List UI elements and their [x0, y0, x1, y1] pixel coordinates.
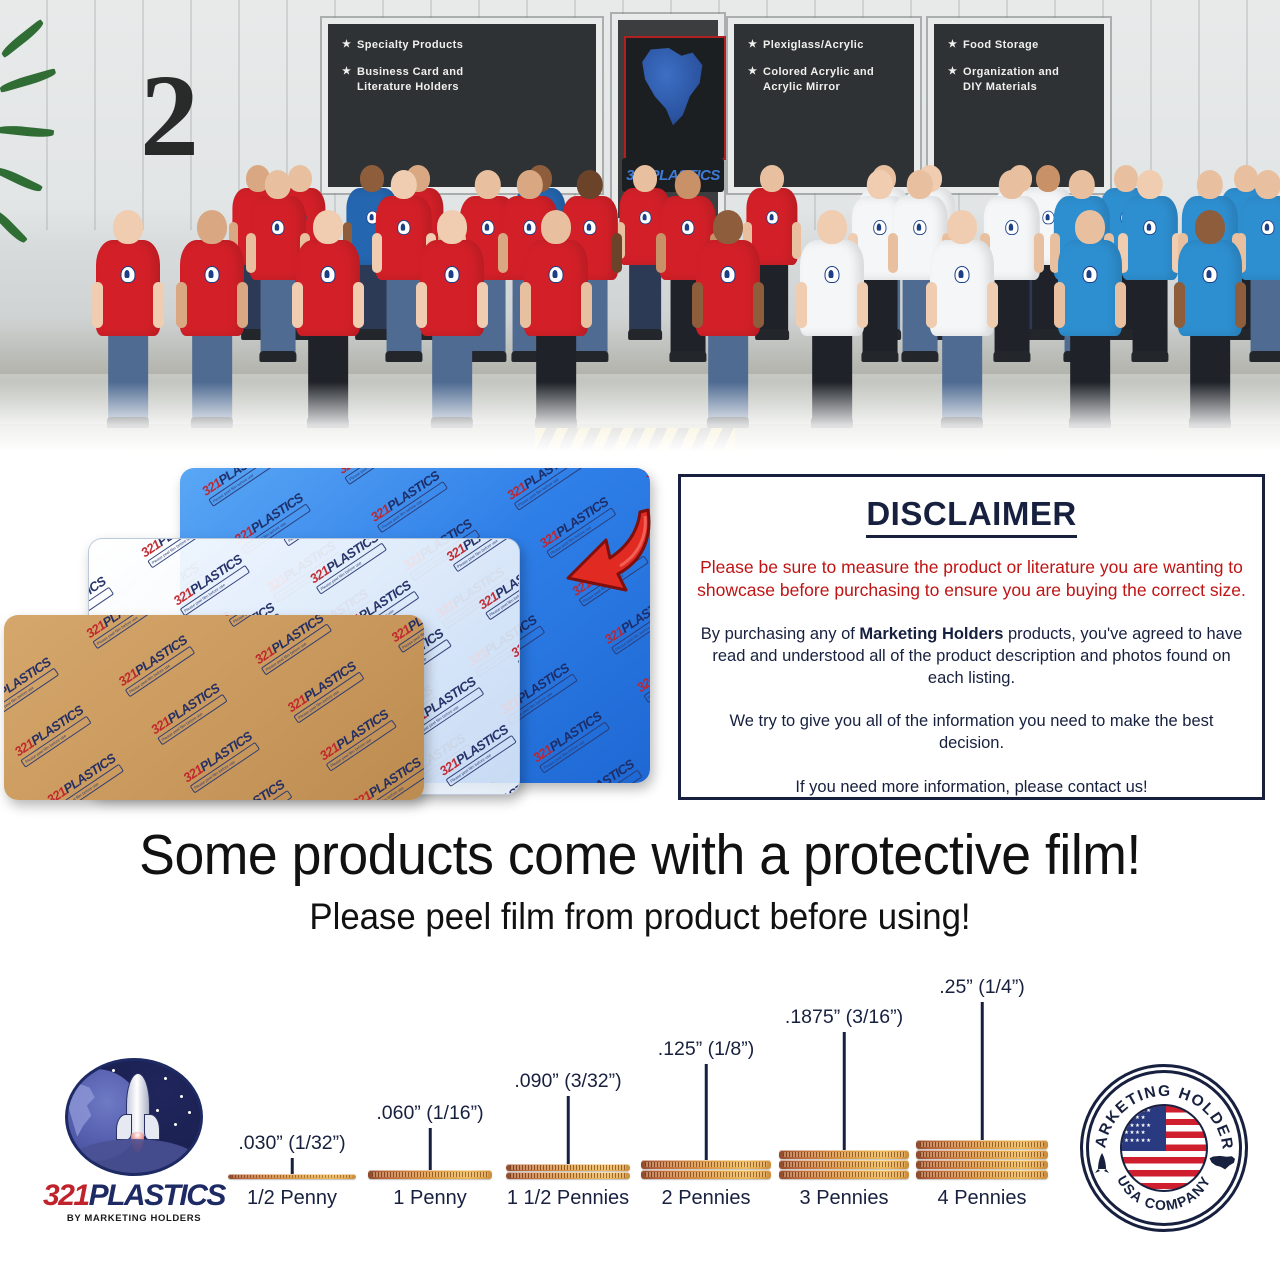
penny-stack [641, 1160, 771, 1180]
head [1255, 170, 1280, 200]
staff-member [415, 186, 489, 422]
disclaimer-p1-pre: By purchasing any of [701, 625, 860, 643]
shirt [1178, 240, 1242, 336]
staff-member [691, 195, 765, 422]
small-rocket-icon [1095, 1153, 1109, 1173]
film-watermark: 321PLASTICSPlease peel film before use [83, 615, 163, 649]
staff-group [0, 0, 1280, 452]
disclaimer-warning: Please be sure to measure the product or… [697, 556, 1246, 602]
logo-badge [873, 220, 886, 235]
penny-stack [368, 1170, 492, 1180]
leader-line [843, 1032, 846, 1154]
disclaimer-title: DISCLAIMER [866, 495, 1076, 538]
penny-group: .090” (3/32”)1 1/2 Pennies [499, 960, 637, 1210]
logo-badge [271, 220, 284, 235]
legs [192, 330, 232, 422]
penny-count-label: 1/2 Penny [247, 1187, 337, 1210]
thickness-value: .030” (1/32”) [238, 1132, 345, 1155]
team-photo: 2 Specialty Products Business Card and L… [0, 0, 1280, 452]
paper-masked-sheet: 321PLASTICSPlease peel film before use32… [4, 615, 424, 800]
film-watermark: 321PLASTICSPlease peel film before use [335, 468, 415, 485]
legs [708, 330, 748, 422]
disclaimer-paragraph-1: By purchasing any of Marketing Holders p… [697, 624, 1246, 689]
penny-coin [641, 1170, 771, 1179]
disclaimer-box: DISCLAIMER Please be sure to measure the… [678, 474, 1265, 800]
head [265, 170, 291, 200]
shirt [96, 240, 160, 336]
shoes [191, 417, 233, 428]
shoes [107, 417, 149, 428]
head [113, 210, 143, 244]
penny-count-label: 4 Pennies [938, 1187, 1027, 1210]
logo-321-number: 321 [43, 1179, 89, 1212]
penny-group: .030” (1/32”)1/2 Penny [223, 960, 361, 1210]
shirt [696, 240, 760, 336]
penny-coin [506, 1164, 630, 1171]
head [541, 210, 571, 244]
shirt [180, 240, 244, 336]
disclaimer-paragraph-3: If you need more information, please con… [697, 777, 1246, 799]
head [1075, 210, 1105, 244]
logo-321-wordmark: 321PLASTICS [36, 1181, 232, 1211]
thickness-value: .1875” (3/16”) [785, 1006, 903, 1029]
logo-badge [825, 266, 840, 283]
staff-member [519, 186, 593, 422]
leader-line [705, 1064, 708, 1164]
middle-section: 321PLASTICSPlease peel film before use32… [0, 452, 1280, 820]
shoes [811, 417, 853, 428]
head [197, 210, 227, 244]
legs [995, 275, 1030, 356]
legs [108, 330, 148, 422]
shirt [1058, 240, 1122, 336]
head [999, 170, 1025, 200]
shoes [431, 417, 473, 428]
brand-name: Marketing Holders [859, 625, 1003, 643]
red-arrow-icon [548, 502, 658, 612]
headline-sub: Please peel film from product before usi… [38, 896, 1241, 938]
penny-stacks: .030” (1/32”)1/2 Penny.060” (1/16”)1 Pen… [230, 960, 1060, 1210]
penny-count-label: 1 1/2 Pennies [507, 1187, 629, 1210]
shoes [535, 417, 577, 428]
leader-line [429, 1128, 432, 1174]
legs [308, 330, 348, 422]
shirt [420, 240, 484, 336]
film-watermark: 321PLASTICSPlease peel film before use [274, 538, 354, 547]
logo-321-plastics: 321PLASTICS BY MARKETING HOLDERS [36, 1058, 232, 1218]
shoes [1189, 417, 1231, 428]
flag-canton [1122, 1106, 1166, 1151]
legs [942, 330, 982, 422]
penny-coin [506, 1172, 630, 1179]
logo-badge [721, 266, 736, 283]
shirt [800, 240, 864, 336]
staff-member [795, 186, 869, 422]
penny-coin [916, 1150, 1048, 1159]
penny-group: .125” (1/8”)2 Pennies [637, 960, 775, 1210]
legs [1251, 275, 1280, 356]
legs [1070, 330, 1110, 422]
penny-coin [641, 1160, 771, 1169]
shoes [307, 417, 349, 428]
penny-stack [779, 1150, 909, 1180]
logo-badge [1083, 266, 1098, 283]
disclaimer-paragraph-2: We try to give you all of the informatio… [697, 711, 1246, 755]
film-watermarks: 321PLASTICSPlease peel film before use32… [4, 615, 424, 800]
logo-badge [321, 266, 336, 283]
film-watermark: 321PLASTICSPlease peel film before use [138, 538, 218, 569]
film-watermark: 321PLASTICSPlease peel film before use [4, 654, 59, 719]
legs [812, 330, 852, 422]
shoes [941, 417, 983, 428]
staff-member [91, 186, 165, 422]
thickness-value: .060” (1/16”) [376, 1102, 483, 1125]
penny-count-label: 2 Pennies [662, 1187, 751, 1210]
headline-block: Some products come with a protective fil… [0, 822, 1280, 938]
protective-film-illustration: 321PLASTICSPlease peel film before use32… [0, 460, 670, 800]
shoes [707, 417, 749, 428]
logo-badge [1203, 266, 1218, 283]
penny-coin [779, 1160, 909, 1169]
logo-badge [766, 211, 778, 225]
head [947, 210, 977, 244]
thickness-chart: 321PLASTICS BY MARKETING HOLDERS .030” (… [0, 960, 1280, 1260]
penny-stack [916, 1140, 1048, 1180]
thickness-value: .25” (1/4”) [939, 976, 1025, 999]
legs [1133, 275, 1168, 356]
staff-member [175, 195, 249, 422]
staff-member [1053, 186, 1127, 422]
usa-flag-icon [1120, 1104, 1208, 1192]
shoes [1069, 417, 1111, 428]
penny-coin [916, 1170, 1048, 1179]
penny-coin [368, 1170, 492, 1179]
logo-badge [205, 266, 220, 283]
logo-badge [1143, 220, 1156, 235]
penny-coin [779, 1170, 909, 1179]
film-watermark: 321PLASTICSPlease peel film before use [220, 615, 300, 627]
legs [536, 330, 576, 422]
penny-group: .060” (1/16”)1 Penny [361, 960, 499, 1210]
shirt [524, 240, 588, 336]
logo-badge [639, 211, 651, 225]
penny-coin [916, 1140, 1048, 1149]
logo-badge [121, 266, 136, 283]
film-watermark: 321PLASTICSPlease peel film before use [640, 468, 650, 489]
penny-coin [779, 1150, 909, 1159]
legs [1190, 330, 1230, 422]
leader-line [567, 1096, 570, 1168]
penny-count-label: 3 Pennies [800, 1187, 889, 1210]
head [760, 165, 784, 192]
legs [432, 330, 472, 422]
logo-badge [1005, 220, 1018, 235]
headline-main: Some products come with a protective fil… [38, 822, 1241, 888]
thickness-value: .090” (3/32”) [514, 1070, 621, 1093]
logo-badge [549, 266, 564, 283]
rocket-fin-right [144, 1114, 160, 1140]
logo-321-word: PLASTICS [89, 1179, 225, 1212]
penny-coin [916, 1160, 1048, 1169]
shoes [1131, 351, 1168, 362]
logo-badge [1261, 220, 1274, 235]
staff-member [1173, 186, 1247, 422]
shirt [296, 240, 360, 336]
head [437, 210, 467, 244]
globe-rocket-icon [65, 1058, 203, 1176]
head [817, 210, 847, 244]
head [391, 170, 417, 200]
logo-badge [445, 266, 460, 283]
penny-coin [228, 1174, 356, 1179]
head [1137, 170, 1163, 200]
penny-group: .1875” (3/16”)3 Pennies [775, 960, 913, 1210]
head [1195, 210, 1225, 244]
logo-321-tagline: BY MARKETING HOLDERS [36, 1213, 232, 1224]
logo-badge [955, 266, 970, 283]
shirt [930, 240, 994, 336]
shirt [1122, 196, 1178, 280]
film-watermark: 321PLASTICSPlease peel film before use [443, 538, 520, 573]
logo-badge [397, 220, 410, 235]
head [313, 210, 343, 244]
film-watermark: 321PLASTICSPlease peel film before use [199, 468, 279, 507]
penny-stack [506, 1164, 630, 1180]
staff-member [291, 186, 365, 422]
penny-stack [228, 1174, 356, 1180]
leader-line [981, 1002, 984, 1144]
penny-count-label: 1 Penny [393, 1187, 466, 1210]
penny-group: .25” (1/4”)4 Pennies [913, 960, 1051, 1210]
staff-member [925, 186, 999, 422]
logo-marketing-holders: MARKETING HOLDERS USA COMPANY [1080, 1064, 1248, 1232]
rocket-fin-left [116, 1114, 132, 1140]
head [633, 165, 657, 192]
shoes [1249, 351, 1280, 362]
thickness-value: .125” (1/8”) [658, 1038, 754, 1061]
head [713, 210, 743, 244]
